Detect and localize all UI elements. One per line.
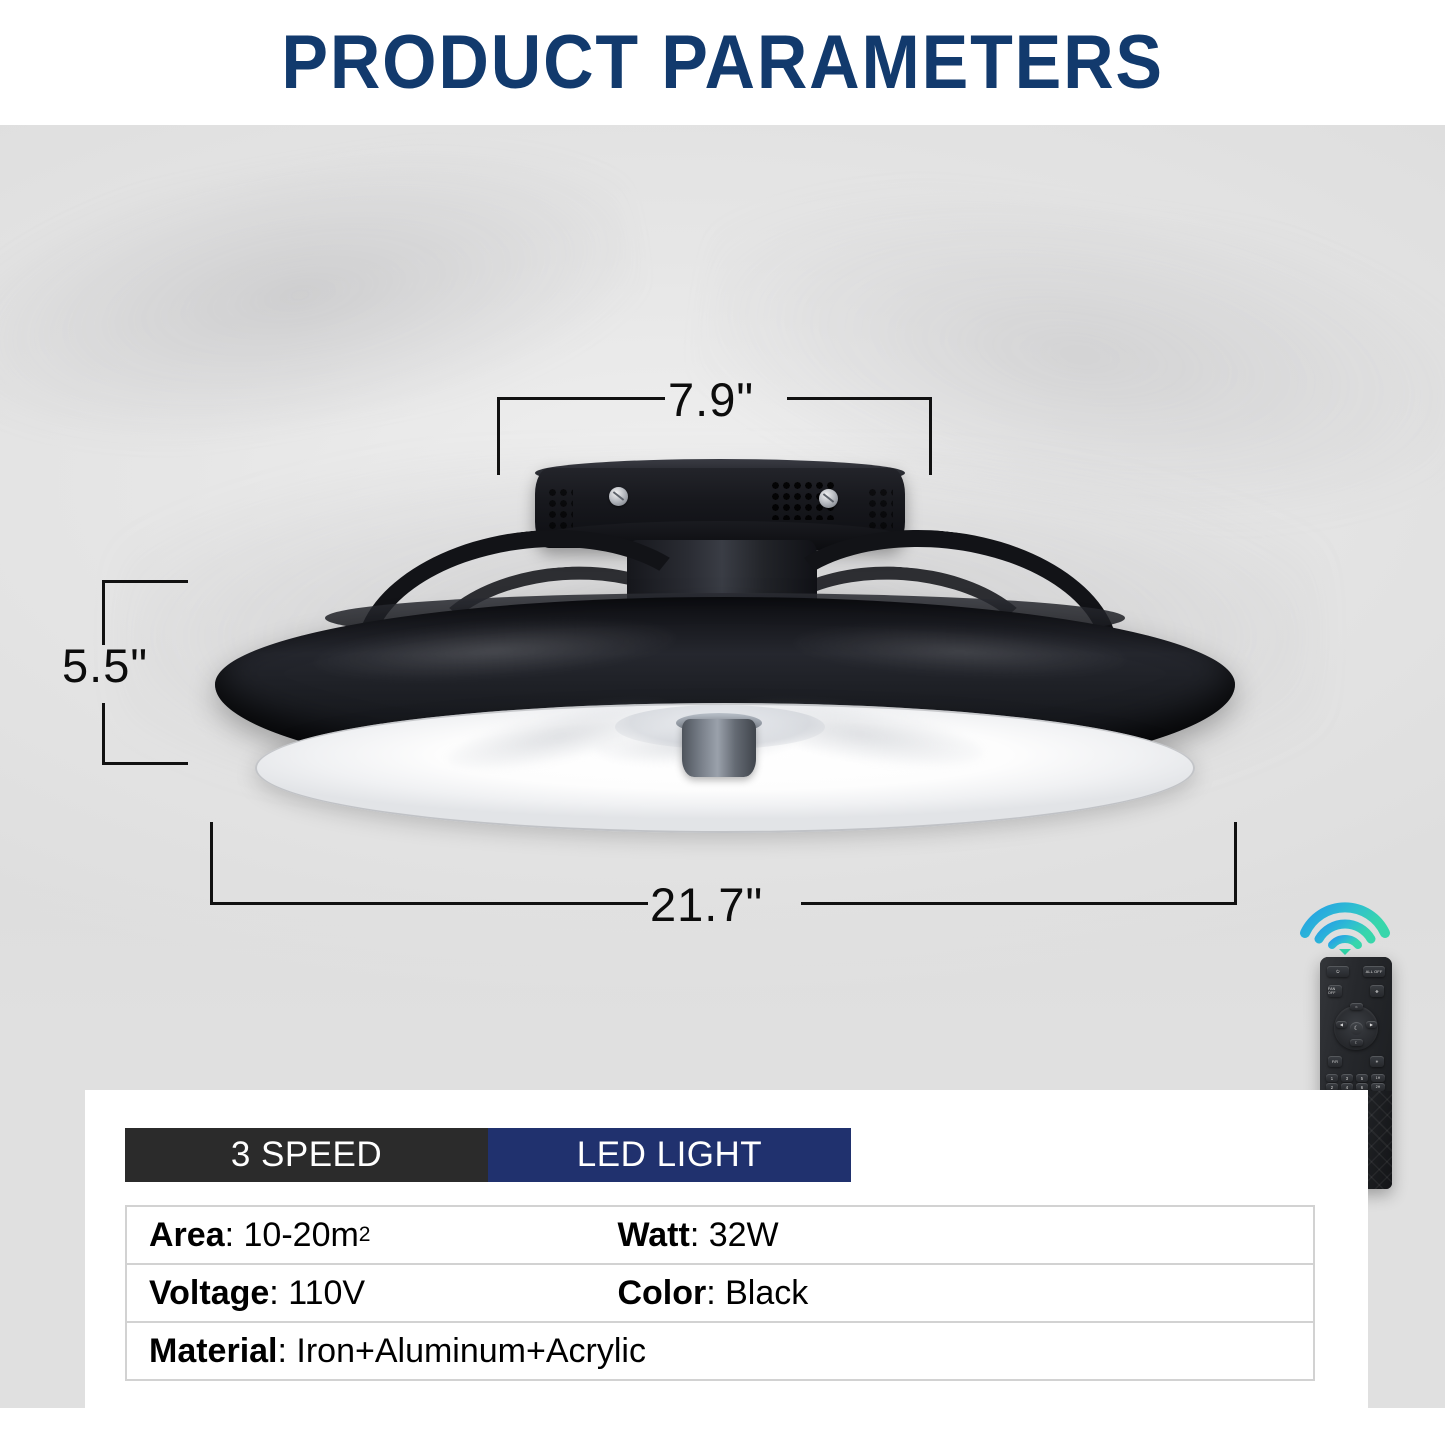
spec-voltage-value: 110V <box>288 1274 365 1313</box>
spec-material: Material: Iron+Aluminum+Acrylic <box>127 1323 1313 1379</box>
dim-height-bar-top <box>102 580 105 645</box>
remote-fan-mode-button[interactable]: ✥ <box>1370 985 1384 997</box>
spec-color-key: Color <box>617 1274 706 1313</box>
wifi-signal-icon <box>1297 877 1393 955</box>
remote-fan-reverse-button[interactable]: F/R <box>1328 1056 1342 1067</box>
page-title: PRODUCT PARAMETERS <box>281 19 1164 106</box>
spec-area-superscript: 2 <box>359 1223 371 1247</box>
dim-height-tick-top <box>102 580 188 583</box>
remote-light-button[interactable]: ☀ <box>1370 1056 1384 1067</box>
remote-dpad-right-button[interactable]: ▶ <box>1366 1021 1377 1028</box>
dim-width-bar-left <box>210 902 648 905</box>
table-row: Material: Iron+Aluminum+Acrylic <box>127 1323 1313 1381</box>
spec-color: Color: Black <box>595 1265 1313 1321</box>
remote-sleep-moon-button[interactable]: ☾ <box>1350 1022 1363 1035</box>
mount-screw-left <box>609 487 628 506</box>
remote-dpad-up-button[interactable]: ☼ <box>1350 1003 1363 1010</box>
remote-dpad-left-button[interactable]: ◀ <box>1336 1021 1347 1028</box>
spec-watt-value: 32W <box>709 1216 779 1255</box>
spec-voltage: Voltage: 110V <box>127 1265 595 1321</box>
page-header: PRODUCT PARAMETERS <box>0 0 1445 125</box>
spec-area: Area: 10-20m2 <box>127 1207 595 1263</box>
table-row: Voltage: 110V Color: Black <box>127 1265 1313 1323</box>
dim-width-tick-left <box>210 822 213 905</box>
feature-tabs: 3 SPEED LED LIGHT <box>125 1128 851 1182</box>
tab-3-speed[interactable]: 3 SPEED <box>125 1128 488 1182</box>
spec-voltage-key: Voltage <box>149 1274 269 1313</box>
spec-area-key: Area <box>149 1216 225 1255</box>
dim-depth-tick-right <box>929 397 932 475</box>
spec-watt: Watt: 32W <box>595 1207 1313 1263</box>
spec-material-key: Material <box>149 1332 278 1371</box>
dim-depth-bar-right <box>787 397 932 400</box>
vent-holes-right <box>867 487 893 529</box>
spec-color-value: Black <box>725 1274 808 1313</box>
remote-dpad-down-button[interactable]: ☾ <box>1350 1039 1363 1046</box>
remote-number-1-button[interactable]: 1 <box>1326 1074 1338 1082</box>
spec-area-value: 10-20m <box>244 1216 359 1255</box>
remote-all-off-button[interactable]: ALL OFF <box>1363 966 1385 977</box>
remote-number-5-button[interactable]: 5 <box>1356 1074 1368 1082</box>
dim-width-tick-right <box>1234 822 1237 905</box>
dim-depth-label: 7.9" <box>668 372 754 427</box>
dim-width-bar-right <box>801 902 1237 905</box>
table-row: Area: 10-20m2 Watt: 32W <box>127 1207 1313 1265</box>
specifications-table: Area: 10-20m2 Watt: 32W Voltage: 110V Co… <box>125 1205 1315 1381</box>
mount-screw-right <box>819 489 838 508</box>
vent-holes-left <box>547 487 573 529</box>
remote-timer-2h-button[interactable]: 2H <box>1371 1083 1385 1091</box>
dim-height-tick-bottom <box>102 762 188 765</box>
dim-width-label: 21.7" <box>650 877 763 932</box>
product-parameters-infographic: PRODUCT PARAMETERS <box>0 0 1445 1445</box>
dim-depth-bar-left <box>497 397 665 400</box>
dim-height-bar-bottom <box>102 703 105 765</box>
spec-material-value: Iron+Aluminum+Acrylic <box>296 1332 646 1371</box>
remote-fan-off-button[interactable]: FAN OFF <box>1328 985 1342 997</box>
tab-led-light[interactable]: LED LIGHT <box>488 1128 851 1182</box>
specifications-panel: 3 SPEED LED LIGHT Area: 10-20m2 Watt: 32… <box>85 1090 1368 1408</box>
remote-button-panel: ⏻ ALL OFF FAN OFF ✥ ☼ ◀ ▶ ☾ ☾ F/R ☀ 1 3 … <box>1320 957 1392 1091</box>
diffuser-rim <box>255 703 1195 833</box>
dim-depth-tick-left <box>497 397 500 475</box>
spec-watt-key: Watt <box>617 1216 689 1255</box>
remote-timer-1h-button[interactable]: 1H <box>1371 1074 1385 1082</box>
remote-power-button[interactable]: ⏻ <box>1327 966 1349 977</box>
remote-number-3-button[interactable]: 3 <box>1341 1074 1353 1082</box>
dim-height-label: 5.5" <box>62 638 148 693</box>
